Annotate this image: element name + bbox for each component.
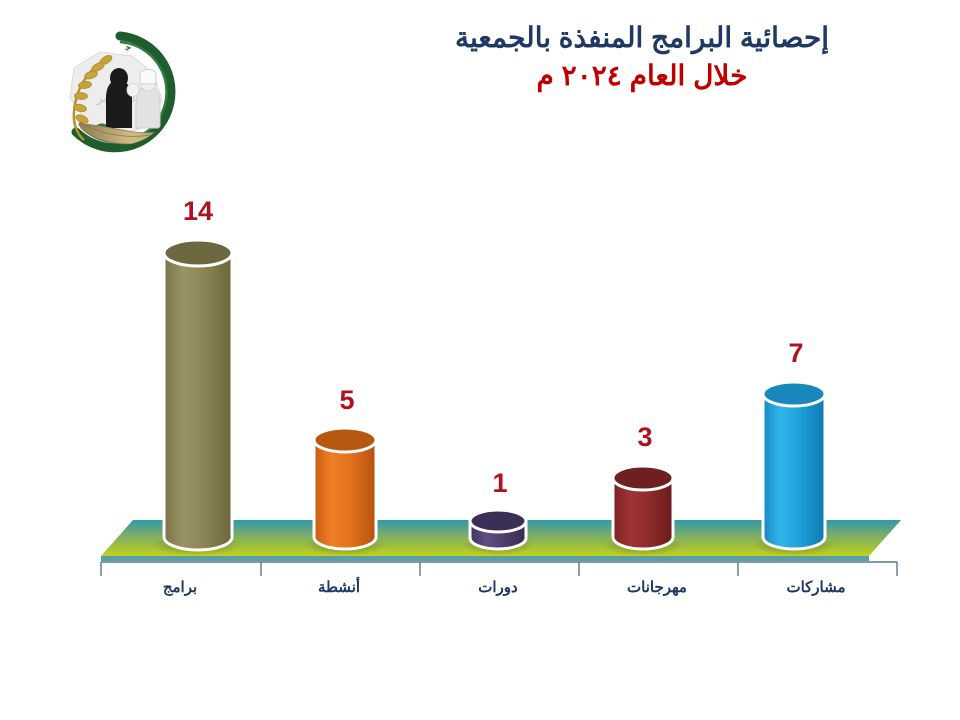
bar-dawrat[interactable] <box>470 510 526 549</box>
category-axis <box>101 562 897 576</box>
floor-front-edge <box>101 556 869 561</box>
slide-canvas: الله أكبر <box>0 0 960 720</box>
category-label-musharakat: مشاركات <box>786 578 845 596</box>
bar-barmaj[interactable] <box>164 240 232 550</box>
data-label-musharakat: 7 <box>788 338 803 369</box>
data-label-anshita: 5 <box>339 385 354 416</box>
data-label-barmaj: 14 <box>183 196 213 227</box>
category-label-mahrajanat: مهرجانات <box>627 578 687 596</box>
data-label-mahrajanat: 3 <box>637 422 652 453</box>
category-label-dawrat: دورات <box>478 578 517 596</box>
category-label-anshita: أنشطة <box>318 578 360 596</box>
bar-musharakat[interactable] <box>763 382 825 549</box>
bar-anshita[interactable] <box>314 428 376 549</box>
category-label-barmaj: برامج <box>163 578 197 596</box>
bar-chart: 14 5 1 3 7 برامج أنشطة دورات مهرجانات مش… <box>0 0 960 720</box>
data-label-dawrat: 1 <box>492 468 507 499</box>
bar-mahrajanat[interactable] <box>613 466 673 549</box>
